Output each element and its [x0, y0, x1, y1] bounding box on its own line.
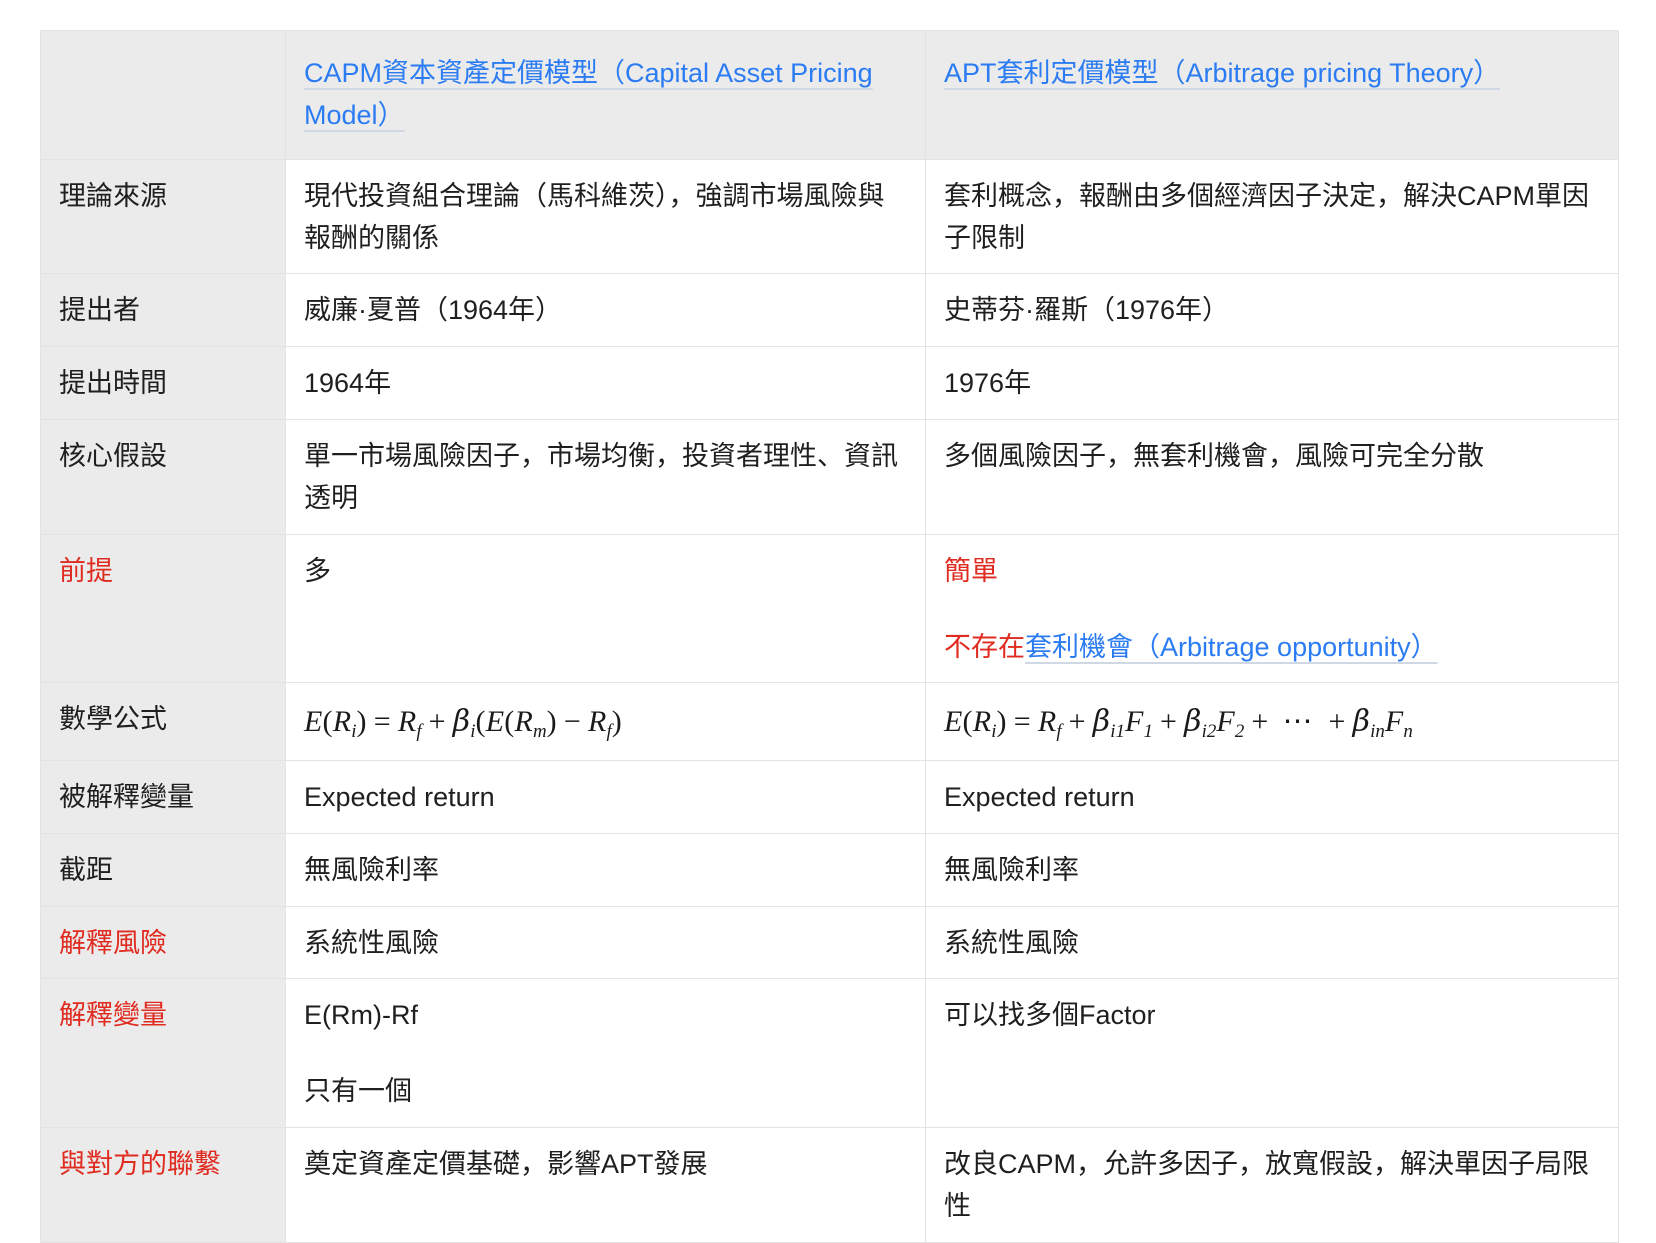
table-row: 提出時間 1964年 1976年 [41, 347, 1619, 420]
cell-capm-proposer: 威廉·夏普（1964年） [286, 274, 926, 347]
row-label-theory-source: 理論來源 [41, 159, 286, 274]
table-row: 數學公式 E(Ri)=Rf+βi(E(Rm)−Rf) E(Ri)=Rf+βi1F… [41, 683, 1619, 761]
apt-premise-prefix: 不存在 [944, 632, 1025, 662]
spacer [944, 593, 1600, 627]
cell-apt-dependent-variable: Expected return [926, 760, 1619, 833]
apt-premise-line2: 不存在套利機會（Arbitrage opportunity） [944, 627, 1600, 669]
cell-apt-premise: 簡單 不存在套利機會（Arbitrage opportunity） [926, 534, 1619, 683]
column-header-apt: APT套利定價模型（Arbitrage pricing Theory） [926, 31, 1619, 160]
cell-apt-core-assumptions: 多個風險因子，無套利機會，風險可完全分散 [926, 420, 1619, 535]
cell-apt-explained-risk: 系統性風險 [926, 906, 1619, 979]
table-row: 解釋變量 E(Rm)-Rf 只有一個 可以找多個Factor [41, 979, 1619, 1128]
column-header-capm: CAPM資本資產定價模型（Capital Asset Pricing Model… [286, 31, 926, 160]
cell-capm-explanatory-variable: E(Rm)-Rf 只有一個 [286, 979, 926, 1128]
table-row: 理論來源 現代投資組合理論（馬科維茨），強調市場風險與報酬的關係 套利概念，報酬… [41, 159, 1619, 274]
table-row: 提出者 威廉·夏普（1964年） 史蒂芬·羅斯（1976年） [41, 274, 1619, 347]
row-label-relationship: 與對方的聯繫 [41, 1128, 286, 1243]
apt-premise-line1: 簡單 [944, 551, 1600, 593]
row-label-proposer: 提出者 [41, 274, 286, 347]
cell-capm-core-assumptions: 單一市場風險因子，市場均衡，投資者理性、資訊透明 [286, 420, 926, 535]
spacer [304, 1037, 907, 1071]
cell-capm-explained-risk: 系統性風險 [286, 906, 926, 979]
table-head: CAPM資本資產定價模型（Capital Asset Pricing Model… [41, 31, 1619, 160]
cell-capm-proposed-year: 1964年 [286, 347, 926, 420]
cell-apt-proposer: 史蒂芬·羅斯（1976年） [926, 274, 1619, 347]
apt-formula: E(Ri)=Rf+βi1F1+βi2F2+⋯+βinFn [944, 705, 1413, 738]
cell-capm-premise: 多 [286, 534, 926, 683]
table-header-row: CAPM資本資產定價模型（Capital Asset Pricing Model… [41, 31, 1619, 160]
table-row: 核心假設 單一市場風險因子，市場均衡，投資者理性、資訊透明 多個風險因子，無套利… [41, 420, 1619, 535]
cell-capm-dependent-variable: Expected return [286, 760, 926, 833]
cell-apt-intercept: 無風險利率 [926, 833, 1619, 906]
row-label-intercept: 截距 [41, 833, 286, 906]
table-row: 前提 多 簡單 不存在套利機會（Arbitrage opportunity） [41, 534, 1619, 683]
page-root: CAPM資本資產定價模型（Capital Asset Pricing Model… [0, 0, 1656, 1134]
row-label-math-formula: 數學公式 [41, 683, 286, 761]
capm-explanatory-line1: E(Rm)-Rf [304, 995, 907, 1037]
row-label-explained-risk: 解釋風險 [41, 906, 286, 979]
table-corner-cell [41, 31, 286, 160]
table-row: 與對方的聯繫 奠定資產定價基礎，影響APT發展 改良CAPM，允許多因子，放寬假… [41, 1128, 1619, 1243]
cell-capm-math-formula: E(Ri)=Rf+βi(E(Rm)−Rf) [286, 683, 926, 761]
cell-apt-proposed-year: 1976年 [926, 347, 1619, 420]
cell-apt-theory-source: 套利概念，報酬由多個經濟因子決定，解決CAPM單因子限制 [926, 159, 1619, 274]
table-row: 截距 無風險利率 無風險利率 [41, 833, 1619, 906]
row-label-dependent-variable: 被解釋變量 [41, 760, 286, 833]
cell-capm-intercept: 無風險利率 [286, 833, 926, 906]
cell-apt-explanatory-variable: 可以找多個Factor [926, 979, 1619, 1128]
capm-formula: E(Ri)=Rf+βi(E(Rm)−Rf) [304, 705, 622, 738]
row-label-core-assumptions: 核心假設 [41, 420, 286, 535]
cell-apt-relationship: 改良CAPM，允許多因子，放寬假設，解決單因子局限性 [926, 1128, 1619, 1243]
table-row: 被解釋變量 Expected return Expected return [41, 760, 1619, 833]
row-label-premise: 前提 [41, 534, 286, 683]
arbitrage-opportunity-link[interactable]: 套利機會（Arbitrage opportunity） [1025, 632, 1438, 662]
cell-capm-theory-source: 現代投資組合理論（馬科維茨），強調市場風險與報酬的關係 [286, 159, 926, 274]
cell-capm-relationship: 奠定資產定價基礎，影響APT發展 [286, 1128, 926, 1243]
cell-apt-math-formula: E(Ri)=Rf+βi1F1+βi2F2+⋯+βinFn [926, 683, 1619, 761]
apt-link[interactable]: APT套利定價模型（Arbitrage pricing Theory） [944, 58, 1500, 88]
row-label-explanatory-variable: 解釋變量 [41, 979, 286, 1128]
capm-explanatory-line2: 只有一個 [304, 1071, 907, 1113]
row-label-proposed-year: 提出時間 [41, 347, 286, 420]
table-row: 解釋風險 系統性風險 系統性風險 [41, 906, 1619, 979]
comparison-table: CAPM資本資產定價模型（Capital Asset Pricing Model… [40, 30, 1619, 1243]
table-body: 理論來源 現代投資組合理論（馬科維茨），強調市場風險與報酬的關係 套利概念，報酬… [41, 159, 1619, 1242]
capm-link[interactable]: CAPM資本資產定價模型（Capital Asset Pricing Model… [304, 58, 873, 130]
